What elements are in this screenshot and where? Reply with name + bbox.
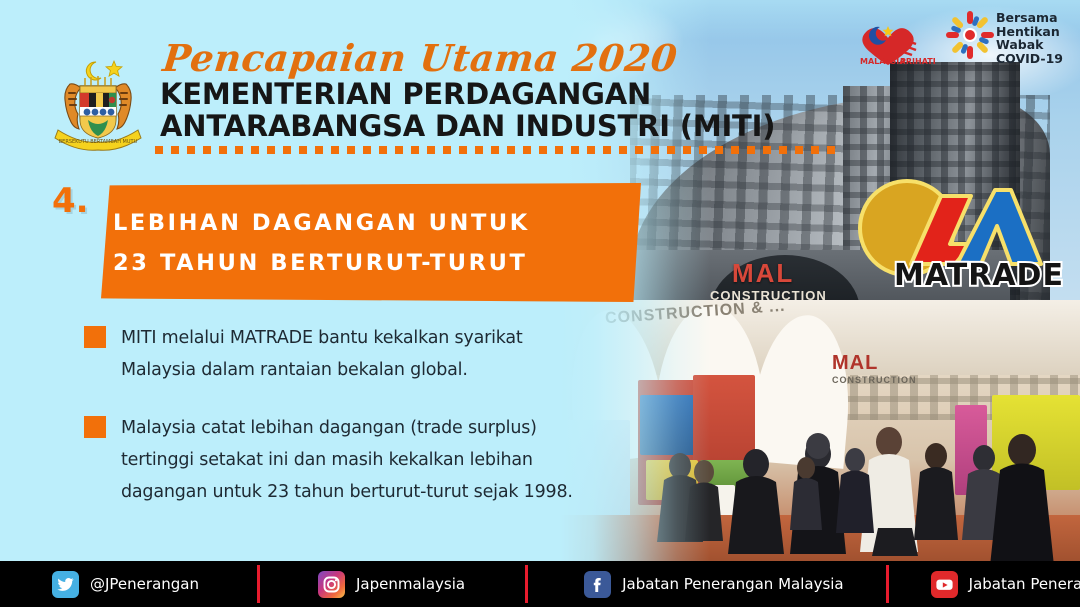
script-title: Pencapaian Utama 2020 (161, 36, 680, 80)
youtube-icon[interactable] (931, 571, 958, 598)
covid19-starburst-icon (944, 10, 996, 60)
footer-divider (525, 565, 528, 603)
covid19-slogan-text: Bersama Hentikan Wabak COVID-19 (996, 11, 1063, 65)
malaysia-prihatin-icon: MALAYSIA PRIHATIN (858, 8, 936, 68)
matrade-logo: MATRADE (845, 172, 1077, 294)
facebook-icon[interactable] (584, 571, 611, 598)
footer-label-instagram: Japenmalaysia (356, 575, 465, 593)
section-banner-title: LEBIHAN DAGANGAN UNTUK 23 TAHUN BERTURUT… (113, 203, 633, 283)
page-title: KEMENTERIAN PERDAGANGAN ANTARABANGSA DAN… (160, 78, 775, 142)
bullet-text: MITI melalui MATRADE bantu kekalkan syar… (121, 322, 523, 386)
list-item: MITI melalui MATRADE bantu kekalkan syar… (84, 322, 624, 386)
svg-text:BERSEKUTU BERTAMBAH MUTU: BERSEKUTU BERTAMBAH MUTU (59, 139, 138, 145)
footer-item-facebook[interactable]: Jabatan Penerangan Malaysia (584, 561, 844, 607)
infographic-poster: MAL CONSTRUCTION CONSTRUCTION & ... MAL … (0, 0, 1080, 607)
social-footer: @JPenerangan Japenmalaysia Jabatan Pener… (0, 561, 1080, 607)
footer-label-youtube: Jabatan Penerangan Malaysia (969, 575, 1080, 593)
footer-item-instagram[interactable]: Japenmalaysia (318, 561, 465, 607)
footer-item-youtube[interactable]: Jabatan Penerangan Malaysia (931, 561, 1080, 607)
footer-item-twitter[interactable]: @JPenerangan (52, 561, 199, 607)
footer-label-facebook: Jabatan Penerangan Malaysia (622, 575, 844, 593)
footer-label-twitter: @JPenerangan (90, 575, 199, 593)
footer-divider (257, 565, 260, 603)
building-sign-mal: MAL (732, 258, 794, 289)
footer-divider (886, 565, 889, 603)
section-number: 4. (52, 181, 89, 221)
svg-text:PRIHATIN: PRIHATIN (900, 57, 936, 66)
bullet-square-icon (84, 326, 106, 348)
twitter-icon[interactable] (52, 571, 79, 598)
instagram-icon[interactable] (318, 571, 345, 598)
bullet-square-icon (84, 416, 106, 438)
list-item: Malaysia catat lebihan dagangan (trade s… (84, 412, 624, 508)
dotted-divider (155, 146, 835, 154)
bullet-list: MITI melalui MATRADE bantu kekalkan syar… (84, 322, 624, 534)
matrade-wordmark: MATRADE (894, 258, 1064, 293)
jata-negara-icon: BERSEKUTU BERTAMBAH MUTU (44, 48, 152, 152)
bullet-text: Malaysia catat lebihan dagangan (trade s… (121, 412, 573, 508)
